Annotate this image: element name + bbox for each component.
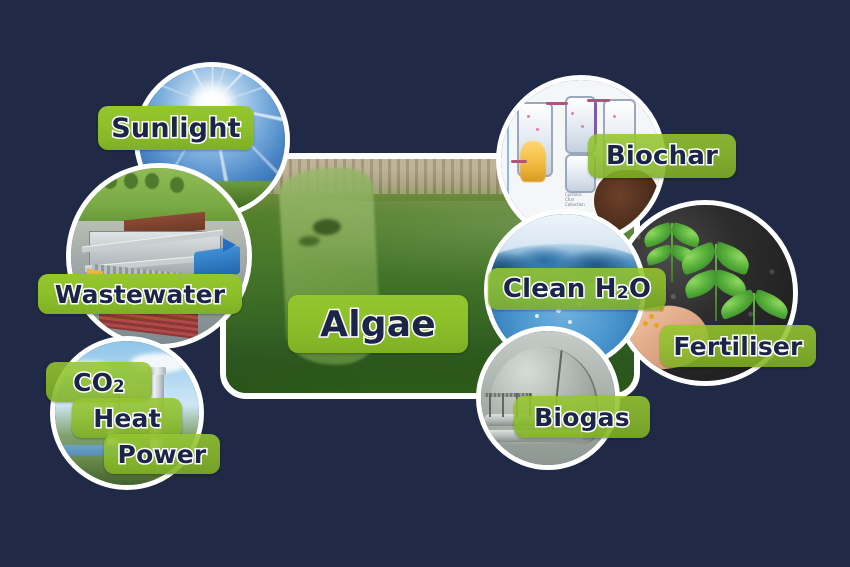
water-droplet (568, 320, 572, 324)
water-droplet (535, 314, 539, 318)
diagram-pipe (587, 99, 609, 102)
label-biogas[interactable]: Biogas (514, 396, 650, 438)
label-fertiliser[interactable]: Fertiliser (660, 325, 816, 367)
railing-post (502, 393, 504, 417)
tree-shape (103, 173, 117, 189)
label-h2o-prefix: Clean H (503, 274, 617, 304)
leaf-shape (717, 289, 758, 321)
diagram-pipe (546, 102, 568, 105)
tree-shape (124, 173, 138, 189)
label-h2o-suffix: O (629, 274, 651, 304)
tree-shape (170, 177, 184, 193)
particle-dot (527, 115, 530, 118)
label-co2[interactable]: CO2 (46, 362, 152, 402)
label-heat[interactable]: Heat (72, 398, 182, 438)
label-wastewater[interactable]: Wastewater (38, 274, 242, 314)
wastewater-plant-image (71, 168, 247, 344)
railing-post (489, 393, 491, 417)
label-power[interactable]: Power (104, 434, 220, 474)
flow-arrow-icon (223, 238, 236, 252)
label-sunlight[interactable]: Sunlight (98, 106, 254, 150)
grass-field (71, 168, 247, 221)
diagram-line (507, 90, 509, 221)
label-h2o-subscript: 2 (617, 283, 629, 303)
diagram-caption: CyclonicCharCollection (565, 192, 585, 207)
leaf-shape (751, 289, 792, 321)
label-algae[interactable]: Algae (288, 295, 468, 353)
label-biochar[interactable]: Biochar (588, 134, 736, 178)
bubble-wastewater[interactable] (66, 163, 252, 349)
label-clean-h2o[interactable]: Clean H2O (488, 268, 666, 310)
label-co2-text: CO (73, 368, 113, 397)
diagram-pipe (511, 160, 527, 163)
infographic-canvas: CyclonicCharCollection QuenchSystem (0, 0, 850, 567)
particle-dot (581, 125, 584, 128)
label-co2-subscript: 2 (113, 377, 125, 396)
